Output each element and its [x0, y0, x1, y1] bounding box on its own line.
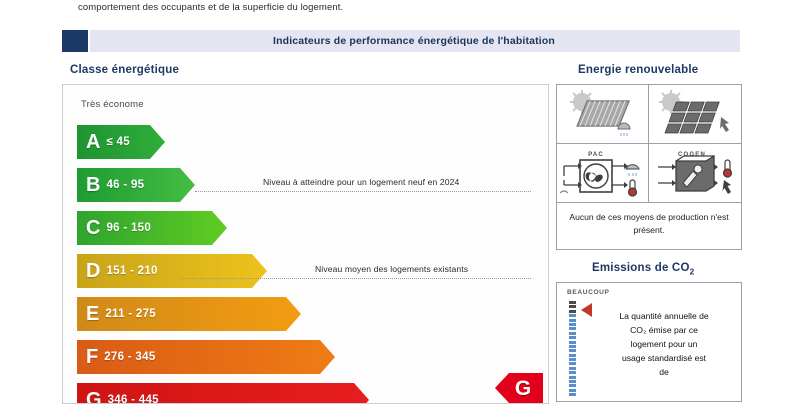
co2-heading-subscript: 2 — [690, 267, 695, 276]
energy-bar-g: G346 - 445 — [77, 383, 369, 404]
energy-bar-letter: B — [77, 175, 100, 195]
co2-description-line: La quantité annuelle de — [597, 309, 731, 323]
energy-class-row-d: D151 - 210 — [77, 252, 547, 295]
energy-bar-range: 151 - 210 — [100, 265, 157, 277]
gauge-segment — [569, 305, 576, 308]
co2-heading-text: Emissions de CO — [592, 262, 690, 274]
solar-thermal-icon — [557, 85, 649, 144]
renewable-panel: PAC — [556, 84, 742, 250]
gauge-segment — [569, 349, 576, 352]
energy-bar-e: E211 - 275 — [77, 297, 301, 331]
gauge-segment — [569, 393, 576, 396]
scale-top-label: Très économe — [81, 99, 144, 110]
energy-bar-range: 346 - 445 — [102, 394, 159, 404]
gauge-segment — [569, 345, 576, 348]
co2-description-line: de — [597, 365, 731, 379]
energy-bar-letter: C — [77, 218, 100, 238]
intro-paragraph: comportement des occupants et de la supe… — [78, 1, 618, 14]
gauge-segment — [569, 380, 576, 383]
energy-bar-range: 276 - 345 — [98, 351, 155, 363]
energy-bar-letter: E — [77, 304, 99, 324]
gauge-segment — [569, 389, 576, 392]
co2-description-line: CO₂ émise par ce — [597, 323, 731, 337]
co2-gauge-pointer — [581, 303, 592, 317]
energy-class-row-f: F276 - 345 — [77, 338, 547, 381]
gauge-segment — [569, 367, 576, 370]
photovoltaic-icon — [649, 85, 741, 144]
annotation-label-1: Niveau à atteindre pour un logement neuf… — [263, 177, 459, 187]
section-title-bar: Indicateurs de performance énergétique d… — [62, 30, 740, 52]
gauge-segment — [569, 310, 576, 313]
gauge-segment — [569, 362, 576, 365]
energy-bar-letter: G — [77, 390, 102, 404]
energy-class-row-e: E211 - 275 — [77, 295, 547, 338]
renewable-note: Aucun de ces moyens de production n'est … — [557, 205, 741, 237]
energy-bar-letter: F — [77, 347, 98, 367]
result-badge-letter: G — [507, 378, 531, 399]
energy-bar-d: D151 - 210 — [77, 254, 267, 288]
cogeneration-icon: COGEN — [649, 144, 741, 203]
energy-bar-a: A≤ 45 — [77, 125, 165, 159]
energy-class-row-g: G346 - 445 — [77, 381, 547, 404]
gauge-segment — [569, 341, 576, 344]
gauge-segment — [569, 301, 576, 304]
gauge-segment — [569, 336, 576, 339]
co2-panel: BEAUCOUP La quantité annuelle deCO₂ émis… — [556, 282, 742, 402]
co2-gauge — [569, 301, 576, 401]
co2-description-line: usage standardisé est — [597, 351, 731, 365]
energy-bar-letter: D — [77, 261, 100, 281]
annotation-line-1 — [195, 191, 531, 192]
pac-label: PAC — [588, 152, 604, 158]
energy-bar-range: 46 - 95 — [100, 179, 144, 191]
gauge-segment — [569, 327, 576, 330]
navy-square-marker — [62, 30, 90, 52]
energy-bar-c: C96 - 150 — [77, 211, 227, 245]
energy-class-heading: Classe énergétique — [70, 64, 179, 76]
gauge-segment — [569, 358, 576, 361]
gauge-top-label: BEAUCOUP — [567, 289, 610, 296]
co2-description: La quantité annuelle deCO₂ émise par cel… — [597, 309, 731, 379]
energy-bar-range: ≤ 45 — [100, 136, 130, 148]
gauge-segment — [569, 332, 576, 335]
section-title-text: Indicateurs de performance énergétique d… — [90, 35, 740, 47]
energy-bar-range: 96 - 150 — [100, 222, 151, 234]
gauge-segment — [569, 314, 576, 317]
energy-class-panel: Très économe A≤ 45B46 - 95C96 - 150D151 … — [62, 84, 549, 404]
gauge-segment — [569, 371, 576, 374]
renewable-heading: Energie renouvelable — [578, 64, 698, 76]
gauge-segment — [569, 319, 576, 322]
gauge-segment — [569, 354, 576, 357]
energy-class-row-c: C96 - 150 — [77, 209, 547, 252]
annotation-line-2 — [181, 278, 531, 279]
renewable-icon-grid: PAC — [557, 85, 741, 203]
energy-bar-letter: A — [77, 132, 100, 152]
energy-class-row-b: B46 - 95 — [77, 166, 547, 209]
energy-bar-b: B46 - 95 — [77, 168, 195, 202]
heat-pump-icon: PAC — [557, 144, 649, 203]
gauge-segment — [569, 376, 576, 379]
energy-class-bars: A≤ 45B46 - 95C96 - 150D151 - 210E211 - 2… — [77, 123, 547, 404]
gauge-segment — [569, 384, 576, 387]
gauge-segment — [569, 323, 576, 326]
energy-bar-range: 211 - 275 — [99, 308, 156, 320]
energy-class-row-a: A≤ 45 — [77, 123, 547, 166]
annotation-label-2: Niveau moyen des logements existants — [315, 264, 468, 274]
dpe-page: comportement des occupants et de la supe… — [0, 0, 800, 400]
co2-description-line: logement pour un — [597, 337, 731, 351]
co2-heading: Emissions de CO2 — [592, 262, 694, 276]
energy-bar-f: F276 - 345 — [77, 340, 335, 374]
